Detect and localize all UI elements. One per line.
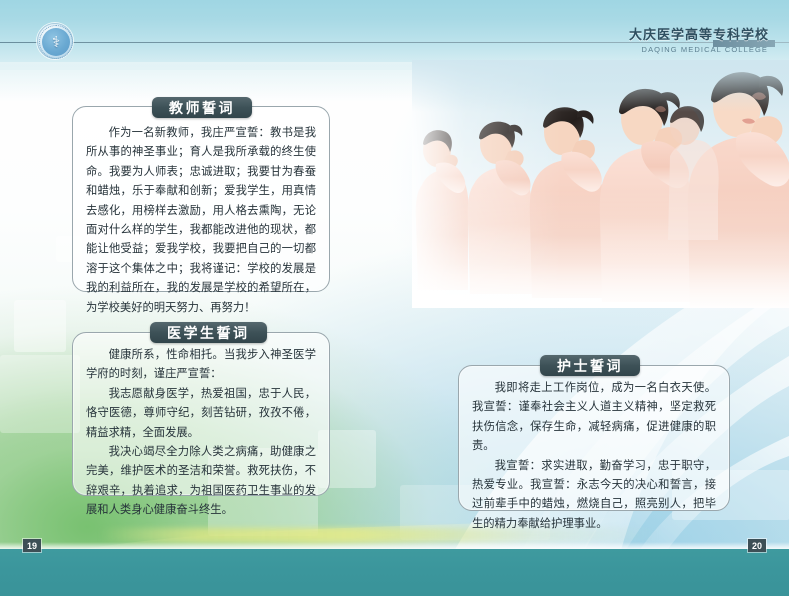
photo-illustration	[412, 60, 789, 308]
caduceus-icon: ⚕	[42, 28, 70, 56]
oath-paragraph: 我决心竭尽全力除人类之病痛，助健康之完美，维护医术的圣洁和荣誉。救死扶伤，不辞艰…	[86, 442, 316, 520]
oath-card-medical-student-body: 健康所系，性命相托。当我步入神圣医学学府的时刻，谨庄严宣誓： 我志愿献身医学，热…	[73, 333, 329, 528]
bottom-bar	[0, 549, 789, 596]
college-logo: ⚕	[37, 23, 73, 59]
logo-disc: ⚕	[42, 28, 70, 56]
decor-square-2	[0, 355, 80, 433]
page-number-right: 20	[748, 539, 766, 552]
oath-card-medical-student: 健康所系，性命相托。当我步入神圣医学学府的时刻，谨庄严宣誓： 我志愿献身医学，热…	[72, 332, 330, 496]
bottom-bar-highlight	[0, 542, 789, 549]
decor-square-1	[14, 300, 66, 352]
oath-card-teacher-body: 作为一名新教师，我庄严宣誓：教书是我所从事的神圣事业；育人是我所承载的终生使命。…	[73, 107, 329, 327]
brochure-page-spread: ⚕ 大庆医学高等专科学校 DAQING MEDICAL COLLEGE	[0, 0, 789, 596]
school-name-cn: 大庆医学高等专科学校	[629, 24, 769, 43]
oath-paragraph: 我志愿献身医学，热爱祖国，忠于人民，恪守医德，尊师守纪，刻苦钻研，孜孜不倦，精益…	[86, 384, 316, 442]
oath-card-medical-student-title-badge: 医学生誓词	[150, 322, 267, 343]
oath-paragraph: 作为一名新教师，我庄严宣誓：教书是我所从事的神圣事业；育人是我所承载的终生使命。…	[86, 123, 316, 317]
oath-card-teacher-title-badge: 教师誓词	[152, 97, 252, 118]
oath-paragraph: 健康所系，性命相托。当我步入神圣医学学府的时刻，谨庄严宣誓：	[86, 345, 316, 384]
oath-card-nurse-body: 我即将走上工作岗位，成为一名白衣天使。我宣誓：谨奉社会主义人道主义精神，坚定救死…	[459, 366, 729, 541]
oath-paragraph: 我即将走上工作岗位，成为一名白衣天使。我宣誓：谨奉社会主义人道主义精神，坚定救死…	[472, 378, 716, 456]
oath-card-nurse-title-badge: 护士誓词	[540, 355, 640, 376]
oath-paragraph: 我宣誓：求实进取，勤奋学习，忠于职守，热爱专业。我宣誓：永志今天的决心和誓言，接…	[472, 456, 716, 534]
oath-card-teacher: 作为一名新教师，我庄严宣誓：教书是我所从事的神圣事业；育人是我所承载的终生使命。…	[72, 106, 330, 292]
page-number-left: 19	[23, 539, 41, 552]
nurses-oath-photo	[412, 60, 789, 308]
oath-card-nurse: 我即将走上工作岗位，成为一名白衣天使。我宣誓：谨奉社会主义人道主义精神，坚定救死…	[458, 365, 730, 511]
school-name-en: DAQING MEDICAL COLLEGE	[642, 45, 768, 54]
